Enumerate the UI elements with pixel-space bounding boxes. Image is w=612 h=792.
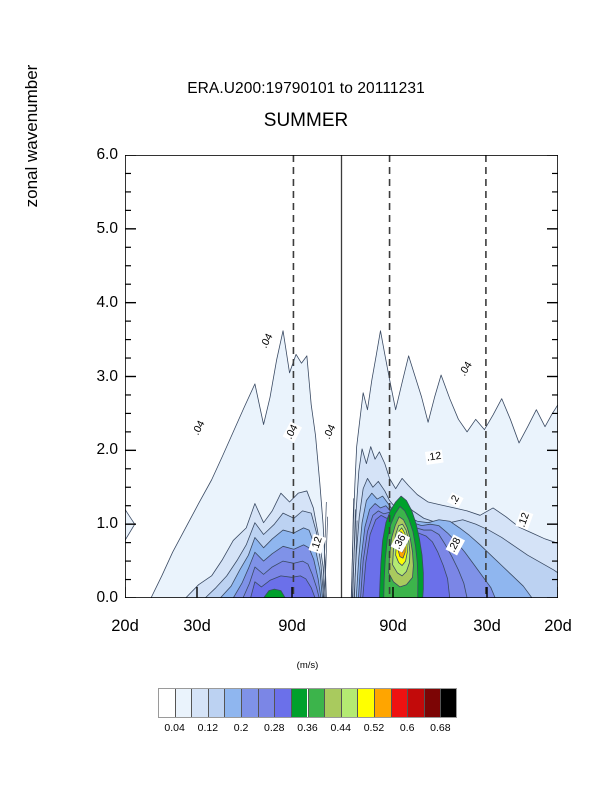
colorbar-cell[interactable] — [308, 688, 325, 718]
figure-root: ERA.U200:19790101 to 20111231 SUMMER zon… — [0, 0, 612, 792]
x-tick-label: 20d — [111, 618, 139, 635]
contour-plot-svg — [125, 155, 558, 598]
colorbar-cell[interactable] — [391, 688, 408, 718]
colorbar-cell[interactable] — [407, 688, 424, 718]
x-tick-label: 30d — [183, 618, 211, 635]
colorbar-cell[interactable] — [374, 688, 391, 718]
x-tick-label: 20d — [544, 618, 572, 635]
x-tick-label: 30d — [473, 618, 501, 635]
colorbar-cell[interactable] — [158, 688, 175, 718]
colorbar-cell[interactable] — [357, 688, 374, 718]
colorbar-label: 0.04 — [164, 723, 184, 734]
colorbar-cell[interactable] — [224, 688, 241, 718]
contour-plot-area: .04.04.04.12.04.12.2.36.28.04.12 — [125, 155, 558, 598]
y-tick-label: 1.0 — [70, 516, 118, 532]
colorbar-label: 0.6 — [400, 723, 415, 734]
colorbar-cell[interactable] — [241, 688, 258, 718]
colorbar-cell[interactable] — [175, 688, 192, 718]
colorbar-label: 0.12 — [198, 723, 218, 734]
y-tick-label: 3.0 — [70, 369, 118, 385]
x-axis-tick-labels: 20d30d90d90d30d20d — [125, 612, 558, 638]
colorbar-label: 0.28 — [264, 723, 284, 734]
y-tick-label: 0.0 — [70, 590, 118, 606]
colorbar-cell[interactable] — [258, 688, 275, 718]
colorbar-label: 0.52 — [364, 723, 384, 734]
colorbar-cell[interactable] — [424, 688, 441, 718]
y-tick-label: 6.0 — [70, 147, 118, 163]
chart-subtitle: SUMMER — [0, 110, 612, 132]
y-tick-label: 5.0 — [70, 221, 118, 237]
colorbar-units: (m/s) — [158, 660, 457, 671]
colorbar-cell[interactable] — [440, 688, 457, 718]
colorbar-cell[interactable] — [324, 688, 341, 718]
colorbar-cell[interactable] — [274, 688, 291, 718]
colorbar-cell[interactable] — [208, 688, 225, 718]
contour-label: .12 — [425, 450, 443, 465]
y-tick-label: 4.0 — [70, 295, 118, 311]
colorbar-label: 0.2 — [234, 723, 249, 734]
colorbar-label: 0.44 — [331, 723, 351, 734]
colorbar-cell[interactable] — [341, 688, 358, 718]
colorbar[interactable] — [158, 688, 457, 718]
colorbar-cell[interactable] — [291, 688, 308, 718]
y-axis-title: zonal wavenumber — [22, 0, 44, 276]
y-tick-label: 2.0 — [70, 442, 118, 458]
colorbar-label: 0.36 — [297, 723, 317, 734]
y-axis-tick-labels: 0.01.02.03.04.05.06.0 — [62, 155, 118, 598]
chart-title: ERA.U200:19790101 to 20111231 — [0, 80, 612, 98]
x-tick-label: 90d — [278, 618, 306, 635]
x-tick-label: 90d — [379, 618, 407, 635]
colorbar-label: 0.68 — [430, 723, 450, 734]
colorbar-cell[interactable] — [191, 688, 208, 718]
colorbar-tick-labels: 0.040.120.20.280.360.440.520.60.68 — [158, 723, 457, 741]
